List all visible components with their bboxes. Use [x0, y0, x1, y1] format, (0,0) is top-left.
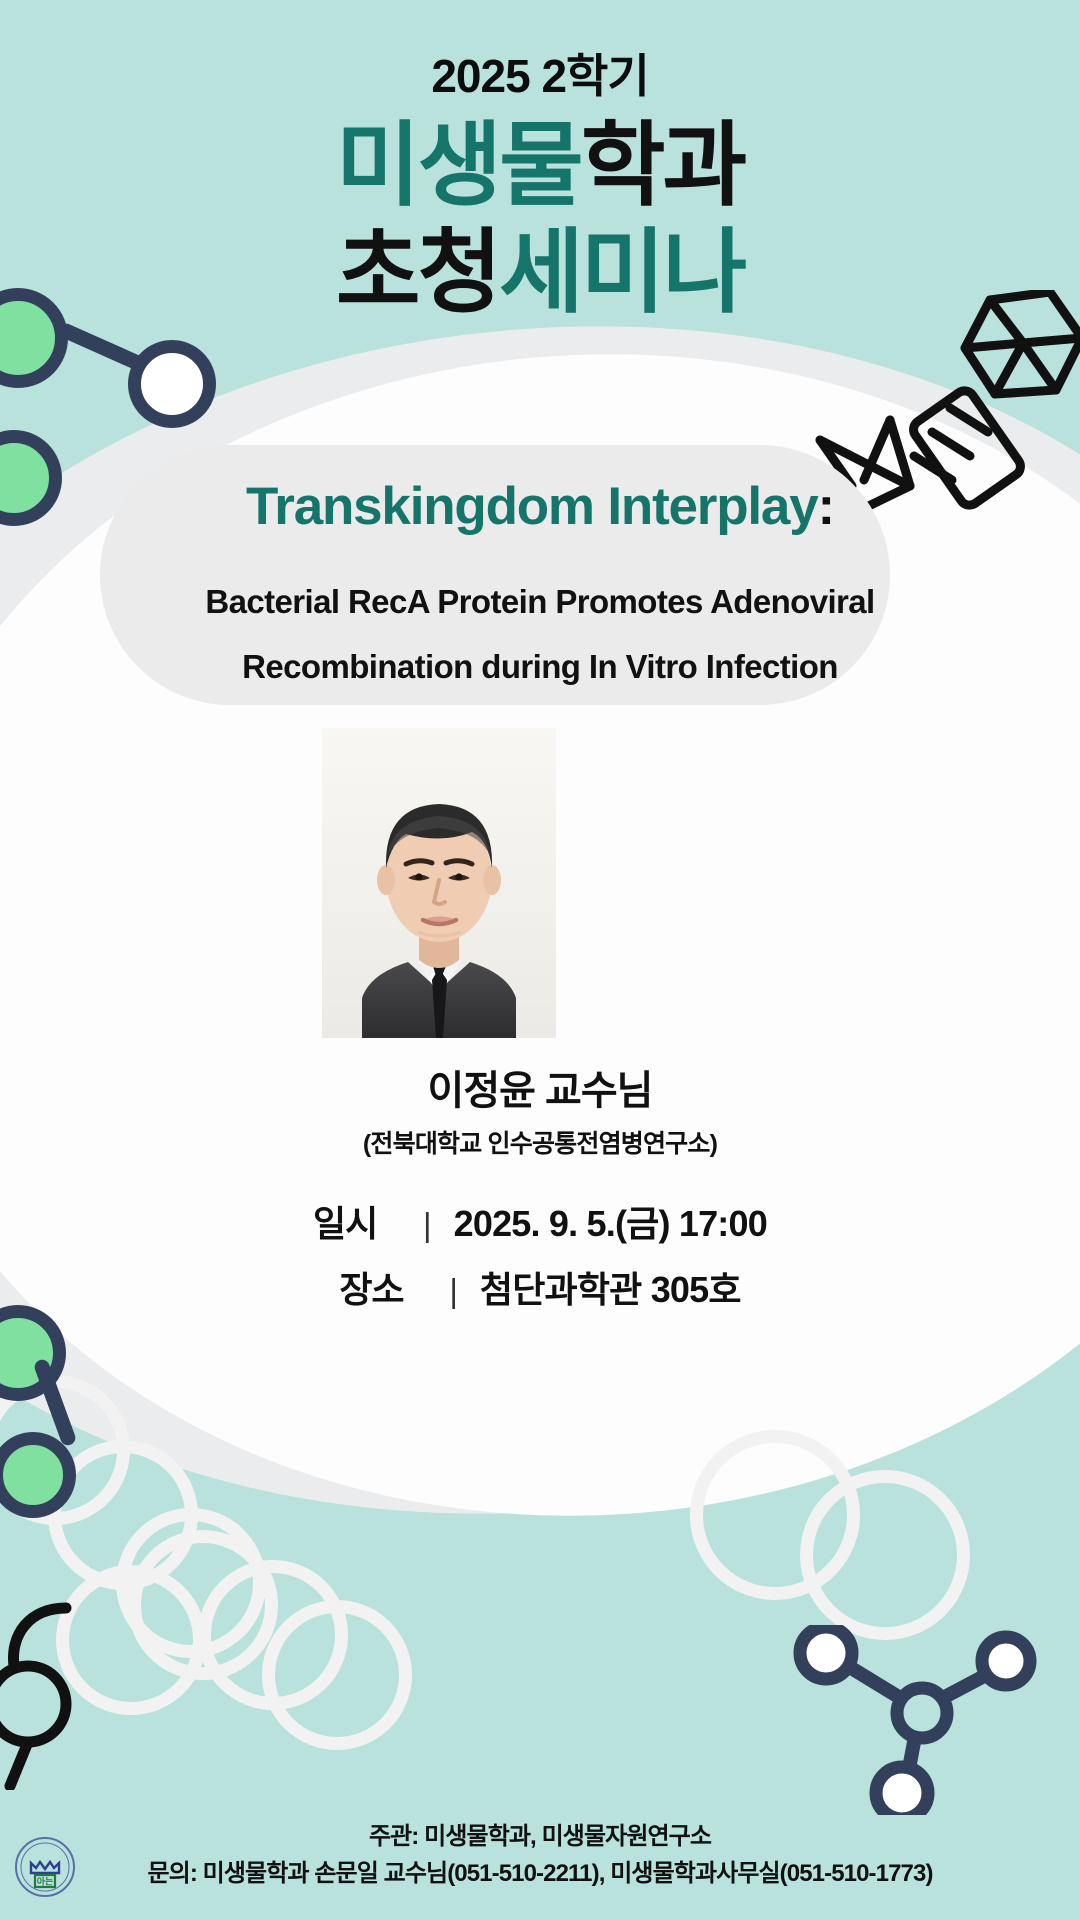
talk-title-colon: : — [818, 477, 834, 536]
talk-title-text: Transkingdom Interplay — [246, 477, 817, 536]
speaker-name: 이정윤 교수님 — [0, 1058, 1080, 1116]
department-title-teal: 미생물 — [336, 115, 581, 217]
outline-ring — [262, 1600, 412, 1750]
talk-title-block: Transkingdom Interplay: Bacterial RecA P… — [0, 478, 1080, 699]
department-title-dark: 학과 — [581, 115, 744, 217]
event-date-value: 2025. 9. 5.(금) 17:00 — [454, 1195, 767, 1247]
university-logo: 아는 — [14, 1836, 76, 1898]
event-location-label: 장소 — [339, 1261, 449, 1313]
talk-subtitle-line-2: Recombination during In Vitro Infection — [0, 635, 1080, 699]
seminar-title-dark: 초청 — [336, 222, 499, 324]
event-date-separator: | — [423, 1206, 432, 1244]
outline-ring — [800, 1470, 970, 1640]
event-detail-row: 일시 | 2025. 9. 5.(금) 17:00 — [0, 1195, 1080, 1247]
molecule-icon — [790, 1625, 1040, 1815]
event-date-label: 일시 — [313, 1195, 423, 1247]
speaker-info: 이정윤 교수님 (전북대학교 인수공통전염병연구소) — [0, 1058, 1080, 1160]
talk-subtitle-line-1: Bacterial RecA Protein Promotes Adenovir… — [0, 570, 1080, 634]
seminar-title-teal: 세미나 — [499, 222, 744, 324]
pusan-national-university-logo-icon: 아는 — [14, 1836, 76, 1898]
semester-label: 2025 2학기 — [0, 40, 1080, 106]
speaker-photo — [322, 728, 556, 1038]
event-location-separator: | — [449, 1272, 458, 1310]
event-detail-row: 장소 | 첨단과학관 305호 — [0, 1261, 1080, 1313]
bacteriophage-icon — [0, 1600, 200, 1790]
footer-organizer: 주관: 미생물학과, 미생물자원연구소 — [0, 1818, 1080, 1855]
speaker-portrait-illustration — [322, 728, 556, 1038]
footer-contact: 문의: 미생물학과 손문일 교수님(051-510-2211), 미생물학과사무… — [0, 1855, 1080, 1892]
seminar-title: 초청세미나 — [0, 225, 1080, 322]
seminar-poster: 2025 2학기 미생물학과 초청세미나 Transkingdom Interp… — [0, 0, 1080, 1920]
poster-header: 2025 2학기 미생물학과 초청세미나 — [0, 0, 1080, 321]
molecule-node-white — [128, 340, 216, 428]
event-details: 일시 | 2025. 9. 5.(금) 17:00 장소 | 첨단과학관 305… — [0, 1195, 1080, 1327]
department-title: 미생물학과 — [0, 118, 1080, 215]
svg-text:아는: 아는 — [37, 1876, 54, 1887]
molecule-cluster-bottom-right — [790, 1625, 1040, 1815]
event-location-value: 첨단과학관 305호 — [480, 1261, 741, 1313]
talk-title-main: Transkingdom Interplay: — [0, 478, 1080, 536]
speaker-affiliation: (전북대학교 인수공통전염병연구소) — [0, 1124, 1080, 1160]
poster-footer: 주관: 미생물학과, 미생물자원연구소 문의: 미생물학과 손문일 교수님(05… — [0, 1818, 1080, 1892]
